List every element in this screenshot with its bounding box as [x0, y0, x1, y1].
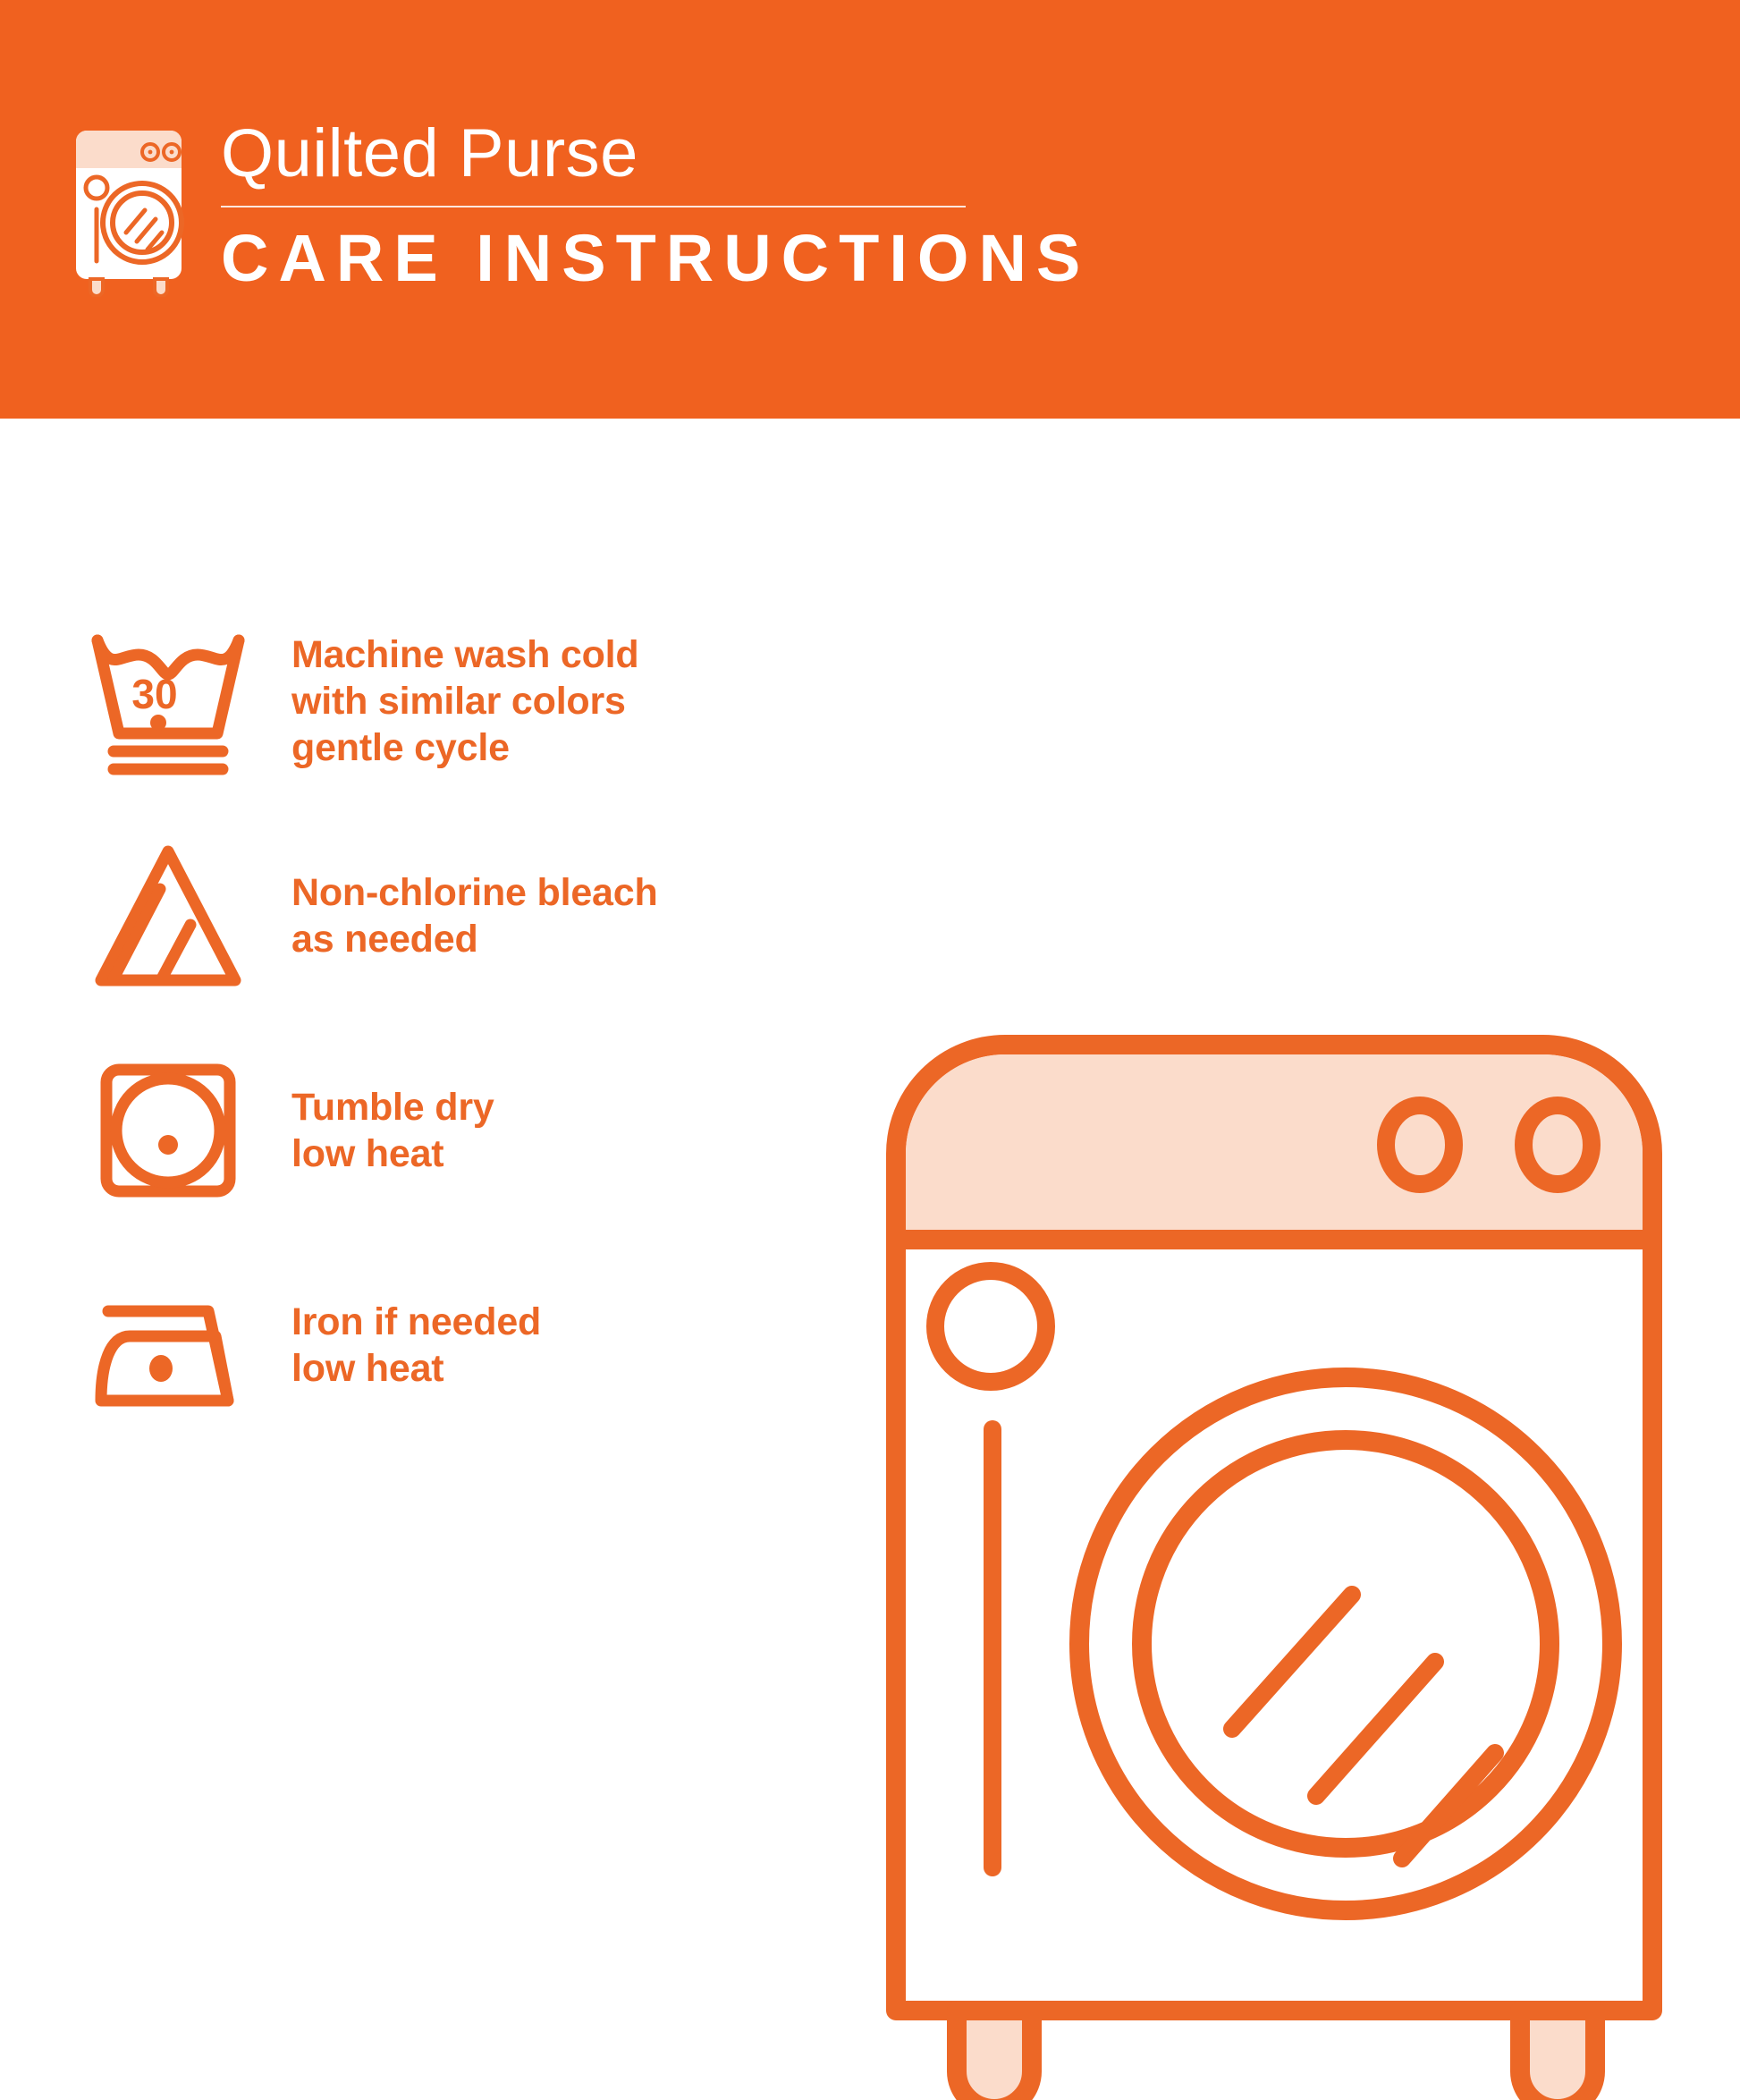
header-text-block: Quilted Purse CARE INSTRUCTIONS — [221, 114, 1185, 295]
leg — [1520, 2011, 1595, 2100]
care-text-line: low heat — [291, 1130, 830, 1177]
iron-low-heat-icon — [79, 1260, 258, 1430]
leg — [957, 2011, 1032, 2100]
care-text: Machine wash cold with similar colors ge… — [258, 631, 830, 771]
care-text-line: Tumble dry — [291, 1084, 830, 1130]
care-row: 30 Machine wash cold with similar colors… — [79, 594, 830, 809]
care-text-line: low heat — [291, 1345, 830, 1392]
care-text-line: gentle cycle — [291, 724, 830, 771]
care-row: Iron if needed low heat — [79, 1238, 830, 1452]
care-text-line: Non-chlorine bleach — [291, 869, 830, 916]
care-instruction-list: 30 Machine wash cold with similar colors… — [79, 594, 830, 1452]
care-text: Tumble dry low heat — [258, 1084, 830, 1177]
header-banner: Quilted Purse CARE INSTRUCTIONS — [0, 0, 1740, 419]
care-text-line: with similar colors — [291, 678, 830, 724]
page-title: CARE INSTRUCTIONS — [221, 222, 1185, 295]
heat-level-dot — [158, 1135, 178, 1155]
wash-temperature-label: 30 — [131, 671, 177, 717]
care-row: Non-chlorine bleach as needed — [79, 809, 830, 1023]
title-divider — [221, 206, 966, 207]
washing-machine-icon — [67, 118, 190, 297]
wash-tub-30-gentle-icon: 30 — [79, 616, 258, 786]
non-chlorine-bleach-triangle-icon — [79, 831, 258, 1001]
care-text: Iron if needed low heat — [258, 1299, 830, 1392]
header-content: Quilted Purse CARE INSTRUCTIONS — [67, 114, 1185, 307]
washing-machine-illustration — [858, 964, 1690, 2100]
heat-level-dot — [149, 1355, 173, 1382]
tumble-dry-low-heat-icon — [79, 1046, 258, 1215]
care-text-line: as needed — [291, 916, 830, 962]
care-text-line: Iron if needed — [291, 1299, 830, 1345]
care-text-line: Machine wash cold — [291, 631, 830, 678]
product-name: Quilted Purse — [221, 114, 1185, 193]
care-text: Non-chlorine bleach as needed — [258, 869, 830, 962]
care-row: Tumble dry low heat — [79, 1023, 830, 1238]
main-content: 30 Machine wash cold with similar colors… — [0, 419, 1740, 1740]
